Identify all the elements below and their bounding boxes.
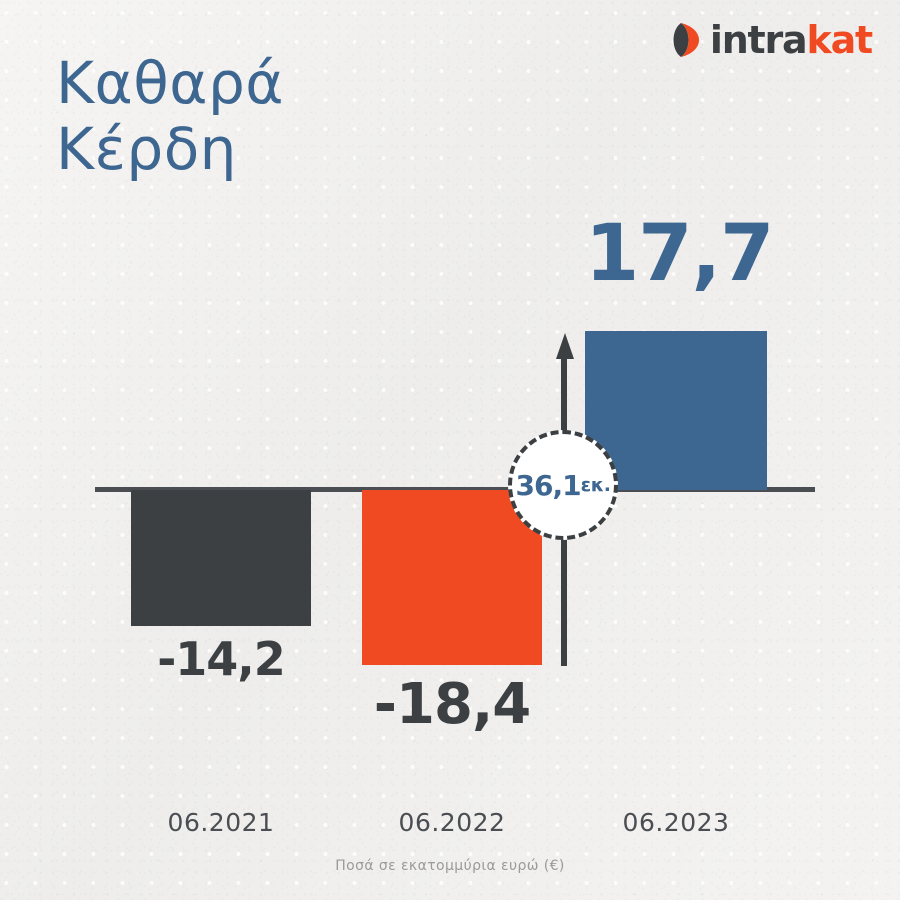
- units-footnote: Ποσά σε εκατομμύρια ευρώ (€): [0, 858, 900, 874]
- bar-value-label-2021: -14,2: [131, 632, 311, 686]
- delta-badge-unit: εκ.: [581, 474, 611, 496]
- bar-value-label-2023: 17,7: [585, 209, 767, 299]
- x-axis-tick-2022: 06.2022: [362, 808, 542, 837]
- x-axis-tick-2021: 06.2021: [131, 808, 311, 837]
- delta-badge: 36,1εκ.: [508, 430, 618, 540]
- x-axis-tick-2023: 06.2023: [585, 808, 767, 837]
- bar-value-label-2022: -18,4: [362, 672, 542, 737]
- bar-chart: -14,2 -18,4 17,7 36,1εκ. 06.2021 06.2022…: [0, 0, 900, 900]
- infographic-canvas: intrakat Καθαρά Κέρδη -14,2 -18,4 17,7 3…: [0, 0, 900, 900]
- bar-2022: [362, 490, 542, 665]
- delta-badge-value: 36,1: [516, 469, 581, 502]
- bar-2021: [131, 490, 311, 626]
